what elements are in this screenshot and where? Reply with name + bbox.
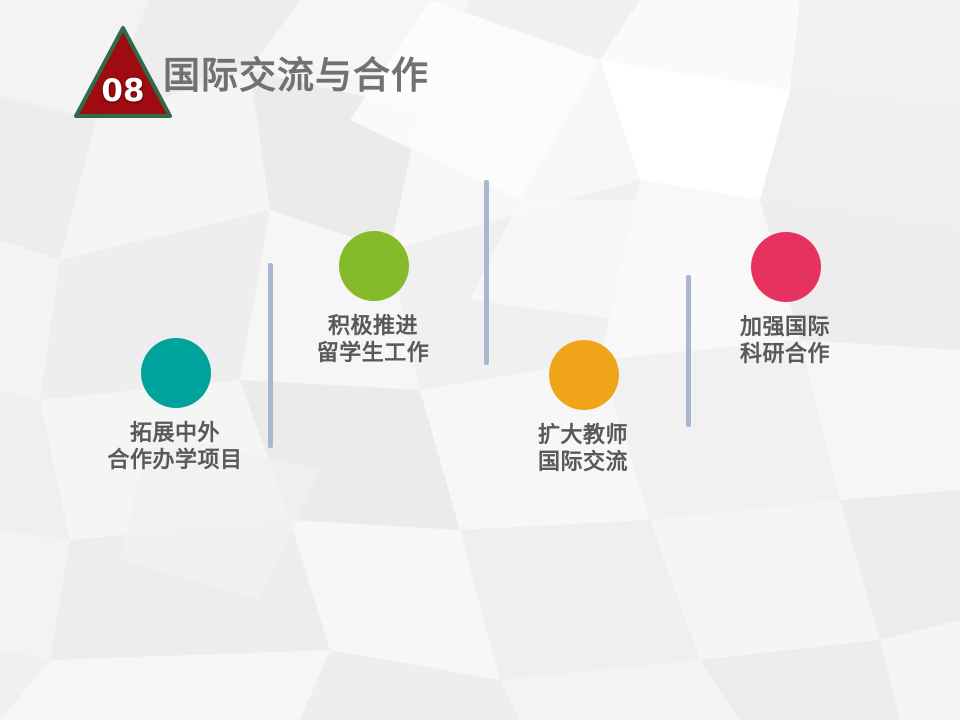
milestone-circle-1[interactable] — [141, 338, 211, 408]
milestone-label-1: 拓展中外 合作办学项目 — [70, 420, 280, 474]
milestone-label-4-line2: 科研合作 — [680, 341, 890, 368]
milestone-node-1[interactable]: 拓展中外 合作办学项目 — [70, 338, 280, 486]
milestone-label-2-line2: 留学生工作 — [268, 340, 478, 367]
milestone-diagram: 拓展中外 合作办学项目 积极推进 留学生工作 扩大教师 国际交流 加强国际 — [0, 0, 960, 720]
milestone-node-3[interactable]: 扩大教师 国际交流 — [478, 340, 688, 488]
milestone-label-3: 扩大教师 国际交流 — [478, 422, 688, 476]
milestone-node-4[interactable]: 加强国际 科研合作 — [680, 232, 890, 380]
milestone-label-2-line1: 积极推进 — [328, 313, 418, 338]
milestone-label-4-line1: 加强国际 — [740, 314, 830, 339]
milestone-label-2: 积极推进 留学生工作 — [268, 313, 478, 367]
presentation-slide: 08 国际交流与合作 拓展中外 合作办学项目 积极推进 留学生工作 — [0, 0, 960, 720]
milestone-label-3-line2: 国际交流 — [478, 449, 688, 476]
milestone-circle-4[interactable] — [751, 232, 821, 302]
milestone-node-2[interactable]: 积极推进 留学生工作 — [268, 231, 478, 379]
milestone-label-3-line1: 扩大教师 — [538, 422, 628, 447]
milestone-label-1-line1: 拓展中外 — [130, 420, 220, 445]
connector-line-2 — [484, 180, 489, 365]
milestone-label-4: 加强国际 科研合作 — [680, 314, 890, 368]
milestone-circle-2[interactable] — [339, 231, 409, 301]
milestone-label-1-line2: 合作办学项目 — [70, 447, 280, 474]
milestone-circle-3[interactable] — [549, 340, 619, 410]
